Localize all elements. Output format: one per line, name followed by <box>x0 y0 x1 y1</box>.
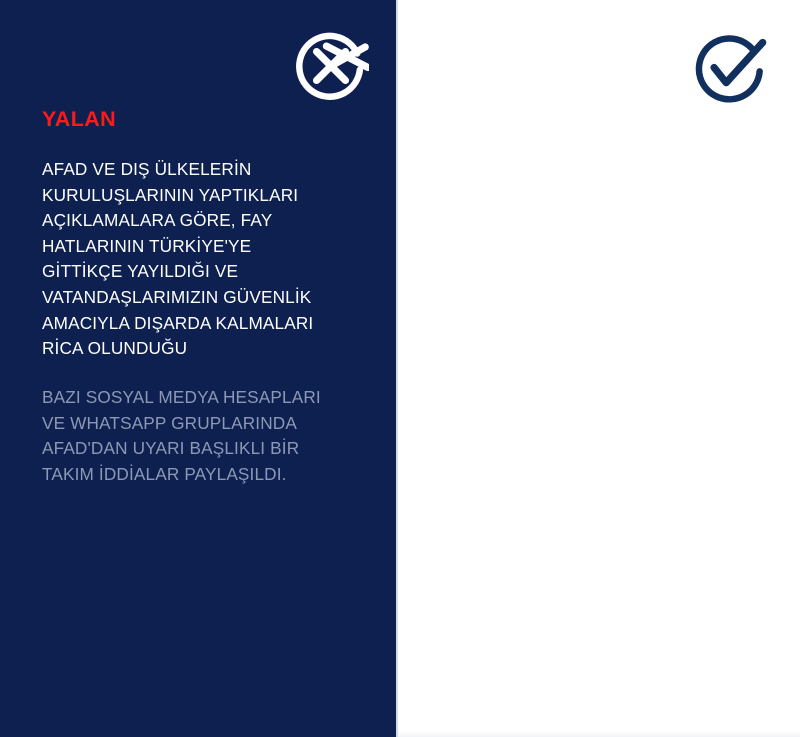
circle-check-icon <box>692 28 768 104</box>
context-line: VE WHATSAPP GRUPLARINDA <box>42 411 352 437</box>
claim-line: GİTTİKÇE YAYILDIĞI VE <box>42 259 352 285</box>
true-fact-panel: GERÇEK NE AFAD NE DE HERHANGİ BİR ULUSLA… <box>396 0 800 737</box>
false-claim-panel: YALAN AFAD VE DIŞ ÜLKELERİN KURULUŞLARIN… <box>0 0 396 737</box>
false-claim-text: AFAD VE DIŞ ÜLKELERİN KURULUŞLARININ YAP… <box>42 157 352 362</box>
claim-line: RİCA OLUNDUĞU <box>42 336 352 362</box>
verdict-label-false: YALAN <box>42 109 116 131</box>
claim-line: AMACIYLA DIŞARDA KALMALARI <box>42 311 352 337</box>
circle-x-icon <box>293 28 369 104</box>
context-line: TAKIM İDDİALAR PAYLAŞILDI. <box>42 462 352 488</box>
context-line: BAZI SOSYAL MEDYA HESAPLARI <box>42 385 352 411</box>
claim-line: VATANDAŞLARIMIZIN GÜVENLİK <box>42 285 352 311</box>
false-claim-context-text: BAZI SOSYAL MEDYA HESAPLARI VE WHATSAPP … <box>42 385 352 487</box>
claim-line: AFAD VE DIŞ ÜLKELERİN <box>42 157 352 183</box>
claim-line: AÇIKLAMALARA GÖRE, FAY <box>42 208 352 234</box>
claim-line: KURULUŞLARININ YAPTIKLARI <box>42 183 352 209</box>
fact-check-card: YALAN AFAD VE DIŞ ÜLKELERİN KURULUŞLARIN… <box>0 0 800 737</box>
context-line: AFAD'DAN UYARI BAŞLIKLI BİR <box>42 436 352 462</box>
claim-line: HATLARININ TÜRKİYE'YE <box>42 234 352 260</box>
